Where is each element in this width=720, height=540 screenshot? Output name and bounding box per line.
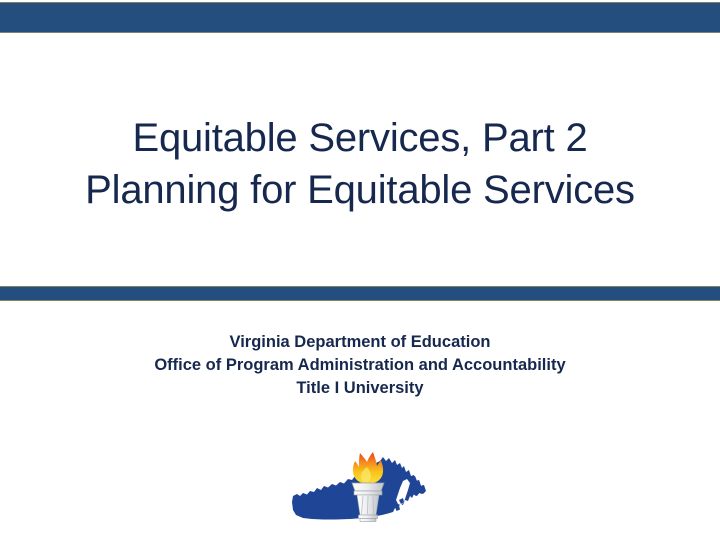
subtitle-line-2: Office of Program Administration and Acc… xyxy=(0,354,720,377)
top-accent-bar xyxy=(0,2,720,33)
middle-accent-bar xyxy=(0,286,720,301)
subtitle-line-1: Virginia Department of Education xyxy=(0,331,720,354)
slide-title: Equitable Services, Part 2 Planning for … xyxy=(0,112,720,216)
virginia-department-of-education-logo xyxy=(288,448,432,528)
subtitle-line-3: Title I University xyxy=(0,377,720,400)
title-line-2: Planning for Equitable Services xyxy=(0,164,720,216)
slide-subtitle: Virginia Department of Education Office … xyxy=(0,331,720,400)
presentation-slide: Equitable Services, Part 2 Planning for … xyxy=(0,0,720,540)
title-line-1: Equitable Services, Part 2 xyxy=(0,112,720,164)
virginia-state-torch-icon xyxy=(288,448,432,528)
